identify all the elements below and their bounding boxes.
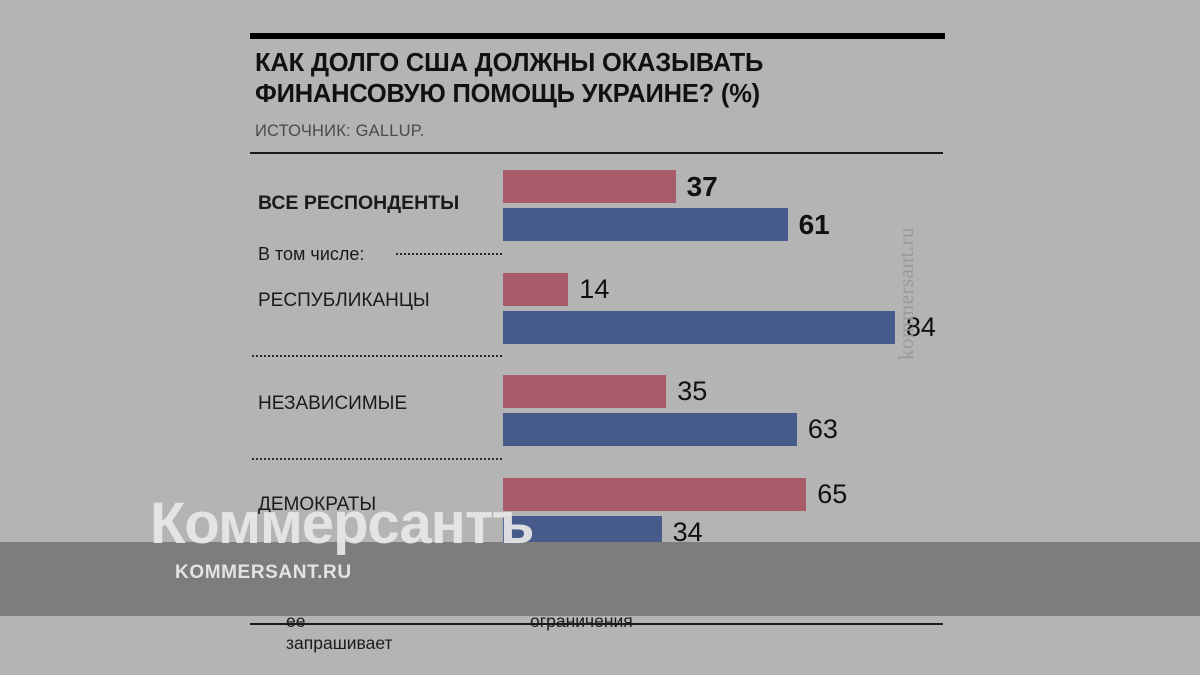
kommersant-url-watermark: kommersant.ru xyxy=(894,227,919,360)
value-label-red-0: 37 xyxy=(687,173,718,201)
bar-red-1 xyxy=(503,273,568,306)
brand-watermark: Коммерсантъ xyxy=(150,495,534,553)
value-label-red-3: 65 xyxy=(817,481,847,508)
bar-blue-0 xyxy=(503,208,788,241)
group-label-1: РЕСПУБЛИКАНЦЫ xyxy=(258,290,430,312)
value-label-red-1: 14 xyxy=(579,276,609,303)
infographic-root: КАК ДОЛГО США ДОЛЖНЫ ОКАЗЫВАТЬ ФИНАНСОВУ… xyxy=(0,0,1200,675)
group-label-2: НЕЗАВИСИМЫЕ xyxy=(258,393,407,415)
subgroup-note: В том числе: xyxy=(258,244,364,265)
bar-red-0 xyxy=(503,170,676,203)
bar-red-2 xyxy=(503,375,666,408)
bottom-rule xyxy=(250,623,943,625)
value-label-blue-0: 61 xyxy=(799,211,830,239)
brand-watermark-sub: KOMMERSANT.RU xyxy=(175,562,352,584)
group-separator-0 xyxy=(396,253,502,255)
bar-blue-2 xyxy=(503,413,797,446)
group-separator-2 xyxy=(252,458,502,460)
group-label-0: ВСЕ РЕСПОНДЕНТЫ xyxy=(258,192,459,215)
value-label-blue-2: 63 xyxy=(808,416,838,443)
bar-blue-1 xyxy=(503,311,895,344)
bar-red-3 xyxy=(503,478,806,511)
group-separator-1 xyxy=(252,355,502,357)
value-label-red-2: 35 xyxy=(677,378,707,405)
